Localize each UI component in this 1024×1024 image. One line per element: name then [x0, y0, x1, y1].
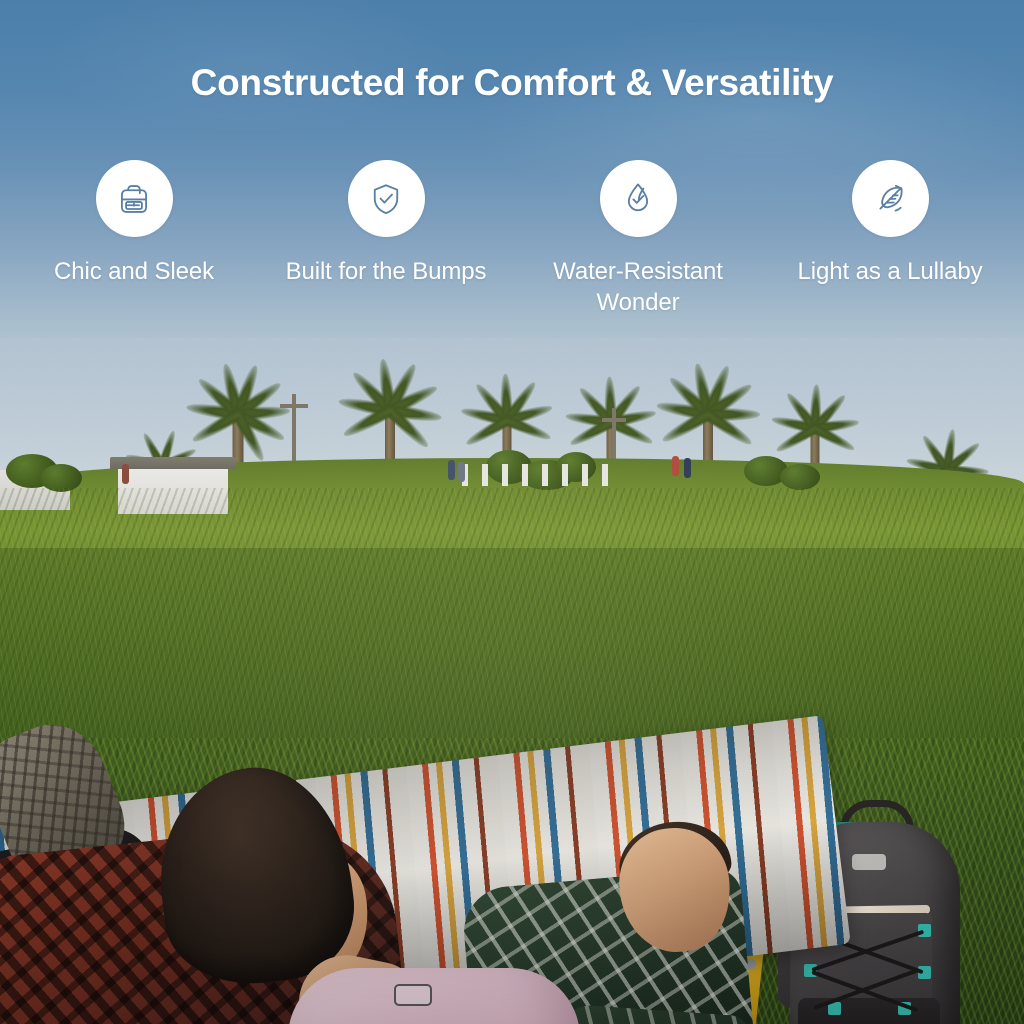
feature-label: Water-Resistant Wonder [533, 257, 743, 318]
feature-item-chic-and-sleek[interactable]: Chic and Sleek [8, 160, 260, 288]
shield-check-icon [366, 179, 406, 219]
feature-item-water-resistant-wonder[interactable]: Water-Resistant Wonder [512, 160, 764, 318]
background-person [122, 464, 129, 484]
utility-pole-crossbar [280, 404, 308, 408]
feature-label: Light as a Lullaby [798, 257, 983, 288]
marketing-banner: Constructed for Comfort & Versatility Ch… [0, 0, 1024, 1024]
utility-pole-crossbar [602, 418, 626, 422]
backpack-icon [114, 179, 154, 219]
feature-icon-badge [600, 160, 677, 237]
feature-item-built-for-the-bumps[interactable]: Built for the Bumps [260, 160, 512, 288]
feature-item-light-as-a-lullaby[interactable]: Light as a Lullaby [764, 160, 1016, 288]
feature-icon-badge [348, 160, 425, 237]
pink-backpack [288, 968, 580, 1024]
feature-icon-badge [852, 160, 929, 237]
feature-icon-badge [96, 160, 173, 237]
background-person [684, 458, 691, 478]
lifestyle-photo [0, 338, 1024, 1024]
feather-icon [870, 179, 910, 219]
pink-backpack-logo [394, 984, 432, 1006]
background-person [448, 460, 455, 480]
gray-backpack-base [798, 998, 940, 1024]
background-person [672, 456, 679, 476]
background-person [458, 462, 465, 482]
feature-list: Chic and Sleek Built for the Bumps Wa [0, 160, 1024, 318]
topiary-bush [780, 464, 820, 490]
park-fence [462, 464, 622, 486]
feature-label: Chic and Sleek [54, 257, 214, 288]
feature-label: Built for the Bumps [286, 257, 487, 288]
gray-backpack-logo [852, 854, 886, 870]
page-title: Constructed for Comfort & Versatility [0, 62, 1024, 105]
water-drop-check-icon [618, 179, 658, 219]
